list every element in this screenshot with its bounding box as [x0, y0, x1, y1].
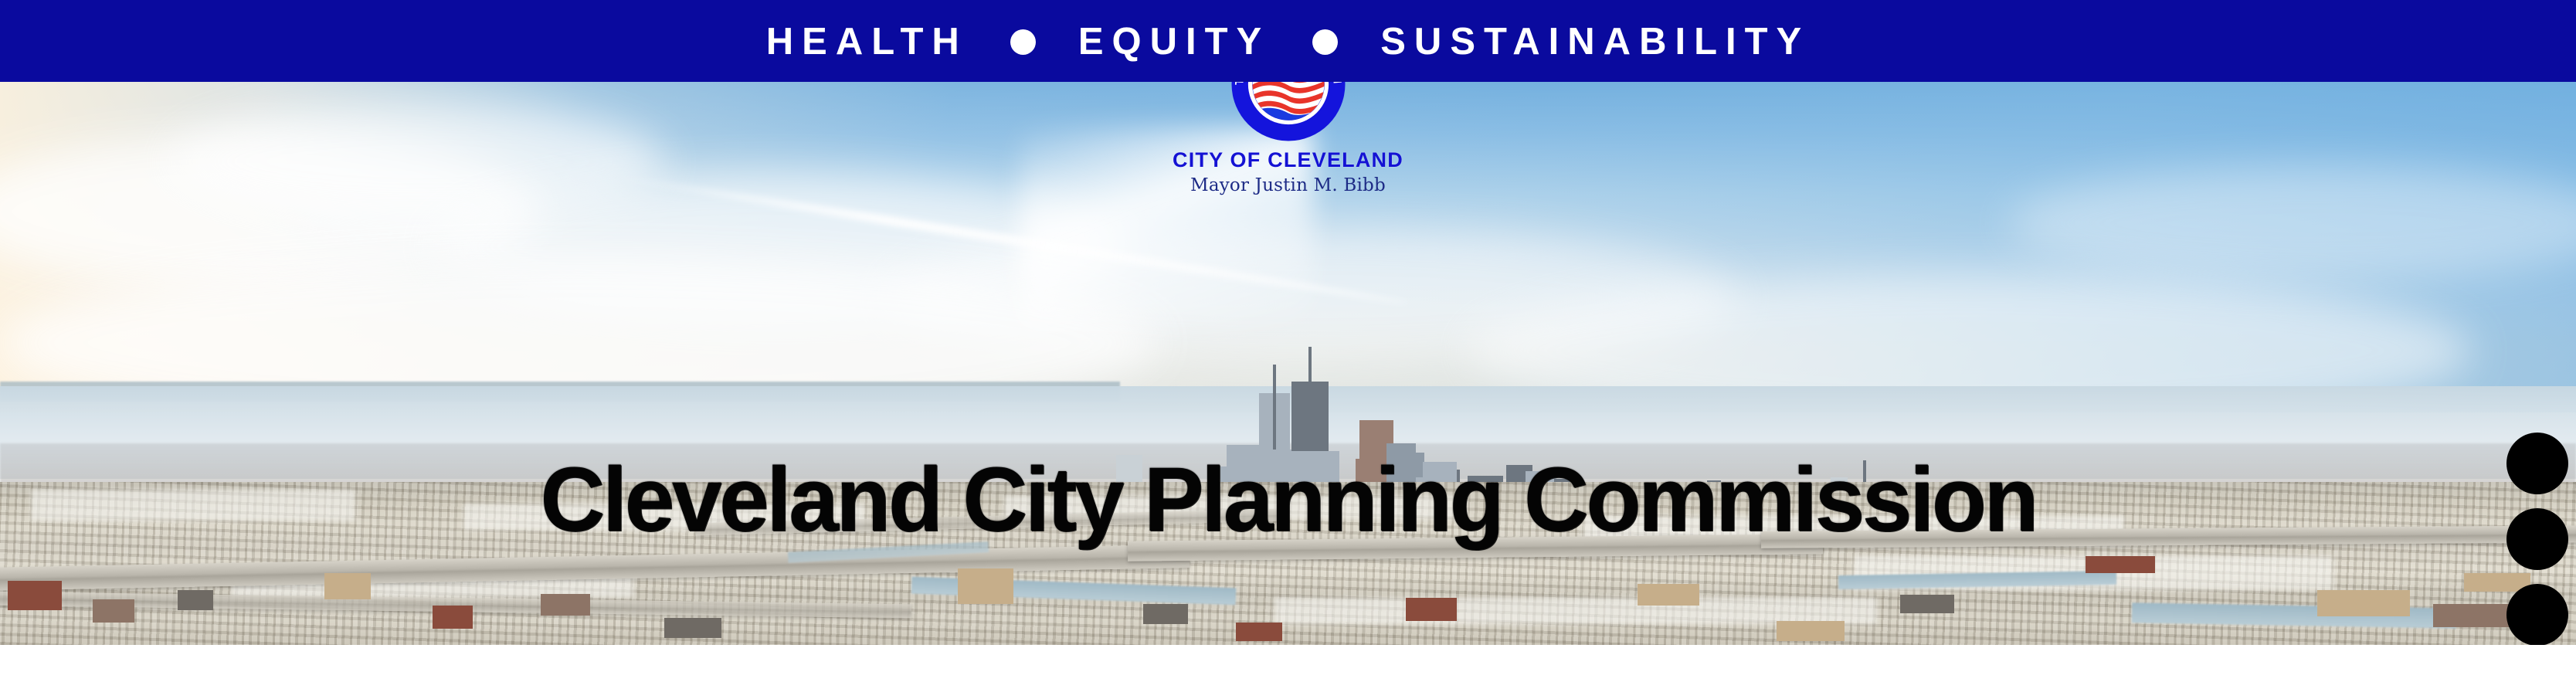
cloud: [2008, 165, 2576, 281]
bullet-dot-icon: [1010, 29, 1036, 55]
hero-photo: [0, 80, 2576, 645]
tagline-equity: EQUITY: [1078, 22, 1270, 61]
tagline-sustainability: SUSTAINABILITY: [1380, 22, 1810, 61]
facebook-link[interactable]: [2506, 584, 2568, 646]
instagram-link[interactable]: [2506, 508, 2568, 570]
tagline-health: HEALTH: [766, 22, 968, 61]
page-root: HEALTH EQUITY SUSTAINABILITY CITY O: [0, 0, 2576, 682]
bottom-white-strip: [0, 645, 2576, 682]
contrail: [1020, 127, 1313, 327]
tagline-banner: HEALTH EQUITY SUSTAINABILITY: [0, 0, 2576, 82]
page-title: Cleveland City Planning Commission: [19, 454, 2557, 545]
social-links: [2506, 433, 2568, 646]
bullet-dot-icon: [1312, 29, 1338, 55]
youtube-link[interactable]: [2506, 433, 2568, 494]
